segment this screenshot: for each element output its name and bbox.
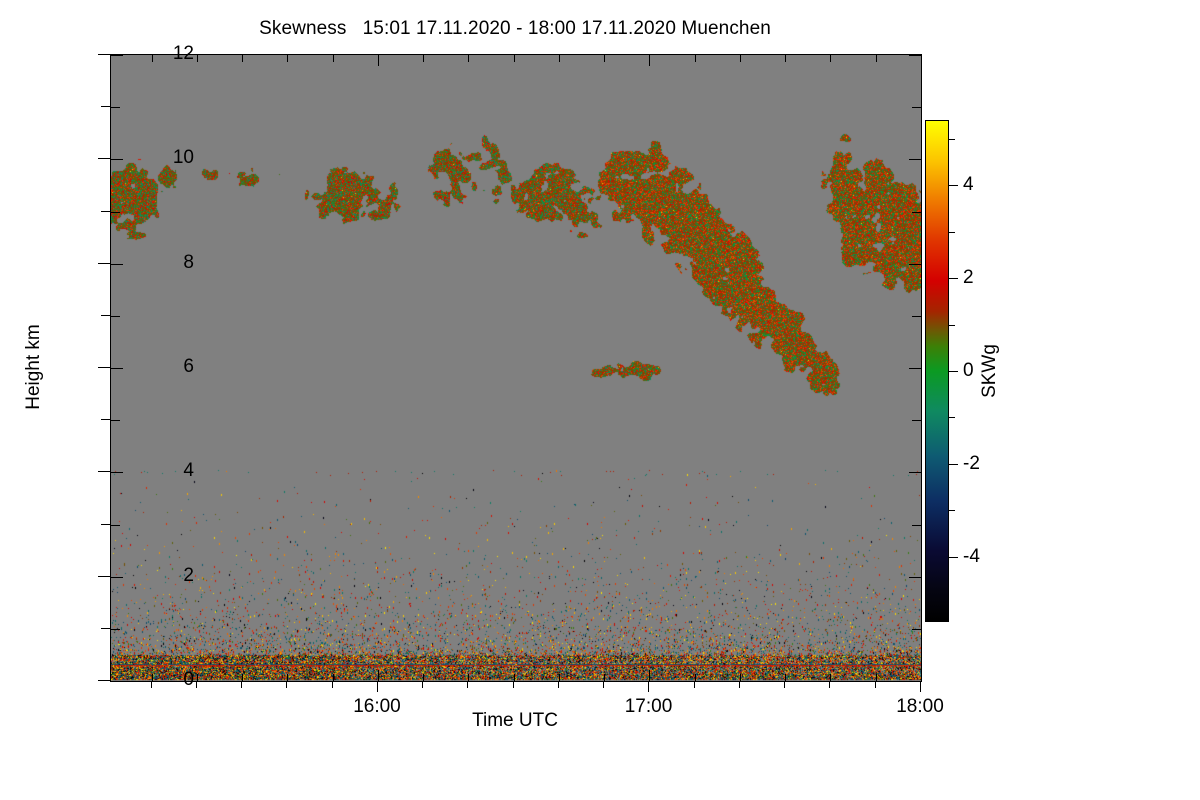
x-axis-tick-inner <box>830 674 831 681</box>
y-axis-tick <box>98 263 110 264</box>
y-axis-tick-inner-right <box>909 577 921 578</box>
y-axis-tick-label: 8 <box>183 252 194 274</box>
colorbar-tick <box>949 139 955 140</box>
colorbar-tick <box>949 371 958 372</box>
x-axis-tick-inner-top <box>242 55 243 62</box>
y-axis-tick-inner-right <box>912 420 921 421</box>
x-axis-tick-inner <box>695 674 696 681</box>
x-axis-tick-inner-top <box>559 55 560 62</box>
y-axis-tick-inner <box>111 681 123 682</box>
x-axis-tick-label: 17:00 <box>625 696 673 718</box>
x-axis-tick <box>558 681 559 688</box>
x-axis-tick-label: 16:00 <box>353 696 401 718</box>
x-axis-tick <box>513 681 514 688</box>
colorbar-tick-label: -4 <box>963 546 980 568</box>
colorbar-tick-label: 4 <box>963 174 974 196</box>
x-axis-tick <box>739 681 740 688</box>
y-axis-tick-label: 6 <box>183 356 194 378</box>
x-axis-tick-inner-top <box>468 55 469 62</box>
x-axis-tick-inner <box>649 670 650 681</box>
x-axis-tick-inner <box>197 674 198 681</box>
x-axis-tick-inner <box>604 674 605 681</box>
colorbar-tick <box>949 417 955 418</box>
x-axis-tick-inner <box>468 674 469 681</box>
y-axis-tick-inner <box>111 316 120 317</box>
x-axis-tick-inner-top <box>514 55 515 62</box>
y-axis-tick-inner <box>111 55 123 56</box>
y-axis-tick-inner <box>111 577 123 578</box>
y-axis-tick-label: 0 <box>183 669 194 691</box>
y-axis-tick-inner <box>111 525 120 526</box>
x-axis-tick-inner-top <box>423 55 424 62</box>
y-axis-tick-inner-right <box>912 107 921 108</box>
x-axis-tick <box>784 681 785 688</box>
y-axis-tick-inner <box>111 420 120 421</box>
x-axis-tick <box>151 681 152 688</box>
x-axis-tick-inner-top <box>921 55 922 66</box>
colorbar-gradient <box>925 120 949 622</box>
y-axis-tick-inner-right <box>912 629 921 630</box>
y-axis-tick <box>101 628 110 629</box>
x-axis-tick-inner-top <box>287 55 288 62</box>
page-title: Skewness 15:01 17.11.2020 - 18:00 17.11.… <box>0 18 1030 40</box>
y-axis-title: Height km <box>23 324 45 410</box>
y-axis-tick <box>98 367 110 368</box>
y-axis-tick-inner-right <box>909 264 921 265</box>
x-axis-tick <box>829 681 830 688</box>
colorbar-tick <box>949 557 958 558</box>
colorbar-tick <box>949 185 958 186</box>
x-axis-tick-inner <box>785 674 786 681</box>
x-axis-tick-inner-top <box>740 55 741 62</box>
x-axis-tick-inner-top <box>876 55 877 62</box>
colorbar-tick-label: 2 <box>963 267 974 289</box>
x-axis-tick <box>332 681 333 688</box>
y-axis-tick-inner <box>111 159 123 160</box>
y-axis-tick <box>101 524 110 525</box>
colorbar-tick <box>949 232 955 233</box>
y-axis-tick <box>101 106 110 107</box>
y-axis-tick <box>98 471 110 472</box>
y-axis-tick <box>98 54 110 55</box>
colorbar-tick <box>949 464 958 465</box>
chart-root: Skewness 15:01 17.11.2020 - 18:00 17.11.… <box>0 0 1200 800</box>
y-axis-tick-label: 12 <box>173 43 194 65</box>
colorbar-tick <box>949 325 955 326</box>
heatmap-canvas <box>111 55 921 681</box>
x-axis-tick-label: 18:00 <box>896 696 944 718</box>
y-axis-tick <box>101 315 110 316</box>
x-axis-tick <box>648 681 649 692</box>
x-axis-title: Time UTC <box>472 710 558 732</box>
x-axis-tick <box>422 681 423 688</box>
x-axis-tick-inner-top <box>197 55 198 62</box>
colorbar-tick <box>949 278 958 279</box>
x-axis-tick-inner <box>378 670 379 681</box>
x-axis-tick-inner <box>242 674 243 681</box>
colorbar-title: SKWg <box>979 344 1001 398</box>
y-axis-tick-inner-right <box>912 212 921 213</box>
y-axis-tick-label: 4 <box>183 460 194 482</box>
x-axis-tick-inner-top <box>604 55 605 62</box>
x-axis-tick-inner-top <box>830 55 831 62</box>
x-axis-tick <box>241 681 242 688</box>
x-axis-tick-inner <box>333 674 334 681</box>
x-axis-tick-inner-top <box>785 55 786 62</box>
colorbar-tick-label: 0 <box>963 360 974 382</box>
y-axis-tick-inner-right <box>909 55 921 56</box>
x-axis-tick <box>603 681 604 688</box>
y-axis-tick-inner-right <box>912 525 921 526</box>
x-axis-tick <box>286 681 287 688</box>
x-axis-tick <box>196 681 197 688</box>
y-axis-tick <box>101 419 110 420</box>
y-axis-tick-inner <box>111 264 123 265</box>
y-axis-tick-inner-right <box>909 159 921 160</box>
x-axis-tick <box>377 681 378 692</box>
colorbar-tick <box>949 510 955 511</box>
x-axis-tick-inner <box>559 674 560 681</box>
x-axis-tick-inner <box>423 674 424 681</box>
x-axis-tick-inner-top <box>152 55 153 62</box>
x-axis-tick-inner-top <box>649 55 650 66</box>
x-axis-tick-inner-top <box>695 55 696 62</box>
y-axis-tick-inner-right <box>909 368 921 369</box>
y-axis-tick-inner <box>111 212 120 213</box>
colorbar-tick-label: -2 <box>963 453 980 475</box>
y-axis-tick-inner-right <box>912 316 921 317</box>
y-axis-tick-label: 10 <box>173 147 194 169</box>
x-axis-tick <box>467 681 468 688</box>
y-axis-tick <box>98 576 110 577</box>
x-axis-tick <box>920 681 921 692</box>
x-axis-tick <box>694 681 695 688</box>
x-axis-tick-inner <box>514 674 515 681</box>
x-axis-tick-inner-top <box>378 55 379 66</box>
x-axis-tick-inner <box>876 674 877 681</box>
y-axis-tick-inner <box>111 629 120 630</box>
x-axis-tick-inner <box>740 674 741 681</box>
y-axis-tick <box>98 680 110 681</box>
x-axis-tick-inner <box>152 674 153 681</box>
y-axis-tick-inner <box>111 368 123 369</box>
y-axis-tick-label: 2 <box>183 565 194 587</box>
y-axis-tick-inner <box>111 472 123 473</box>
x-axis-tick-inner <box>921 670 922 681</box>
y-axis-tick <box>101 211 110 212</box>
y-axis-tick-inner <box>111 107 120 108</box>
x-axis-tick-inner-top <box>333 55 334 62</box>
y-axis-tick-inner-right <box>909 472 921 473</box>
x-axis-tick-inner <box>287 674 288 681</box>
x-axis-tick <box>875 681 876 688</box>
heatmap-plot-area <box>110 54 922 682</box>
colorbar: -4-2024 <box>925 120 949 622</box>
y-axis-tick <box>98 158 110 159</box>
